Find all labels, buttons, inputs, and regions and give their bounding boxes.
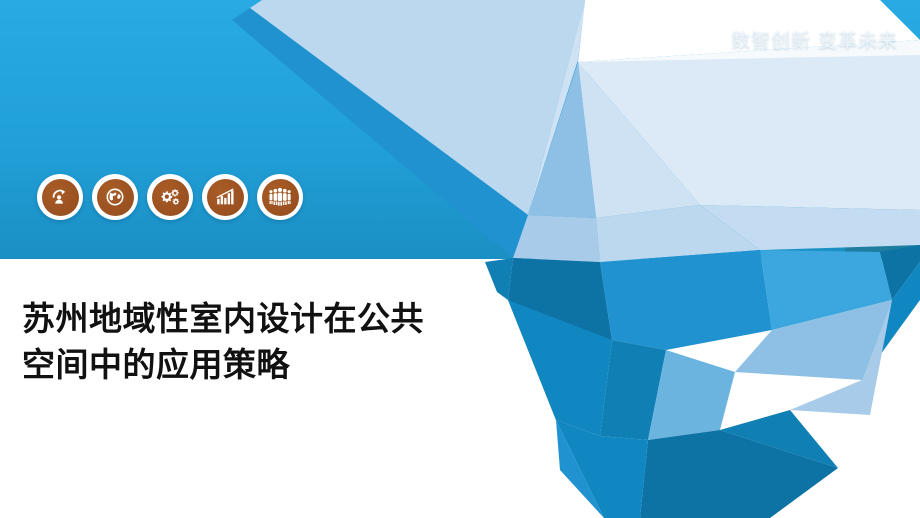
page-title: 苏州地域性室内设计在公共 空间中的应用策略 bbox=[22, 296, 542, 388]
globe-icon bbox=[97, 179, 134, 216]
icon-badge-people-group[interactable] bbox=[257, 174, 303, 220]
icon-badge-gears[interactable] bbox=[147, 174, 193, 220]
low-poly-decoration bbox=[0, 0, 920, 518]
gears-icon bbox=[152, 179, 189, 216]
people-group-icon bbox=[262, 179, 299, 216]
title-line-2: 空间中的应用策略 bbox=[22, 342, 542, 388]
icon-strip bbox=[37, 174, 303, 220]
poly-body-center bbox=[600, 250, 772, 350]
title-line-1: 苏州地域性室内设计在公共 bbox=[22, 296, 542, 342]
person-refresh-icon bbox=[42, 179, 79, 216]
poly-center-top-2 bbox=[513, 215, 600, 262]
title-slide: 数智创新 变革未来 bbox=[0, 0, 920, 518]
icon-badge-bar-chart[interactable] bbox=[202, 174, 248, 220]
bar-chart-icon bbox=[207, 179, 244, 216]
header-tagline: 数智创新 变革未来 bbox=[731, 26, 898, 53]
icon-badge-globe[interactable] bbox=[92, 174, 138, 220]
icon-badge-person-refresh[interactable] bbox=[37, 174, 83, 220]
